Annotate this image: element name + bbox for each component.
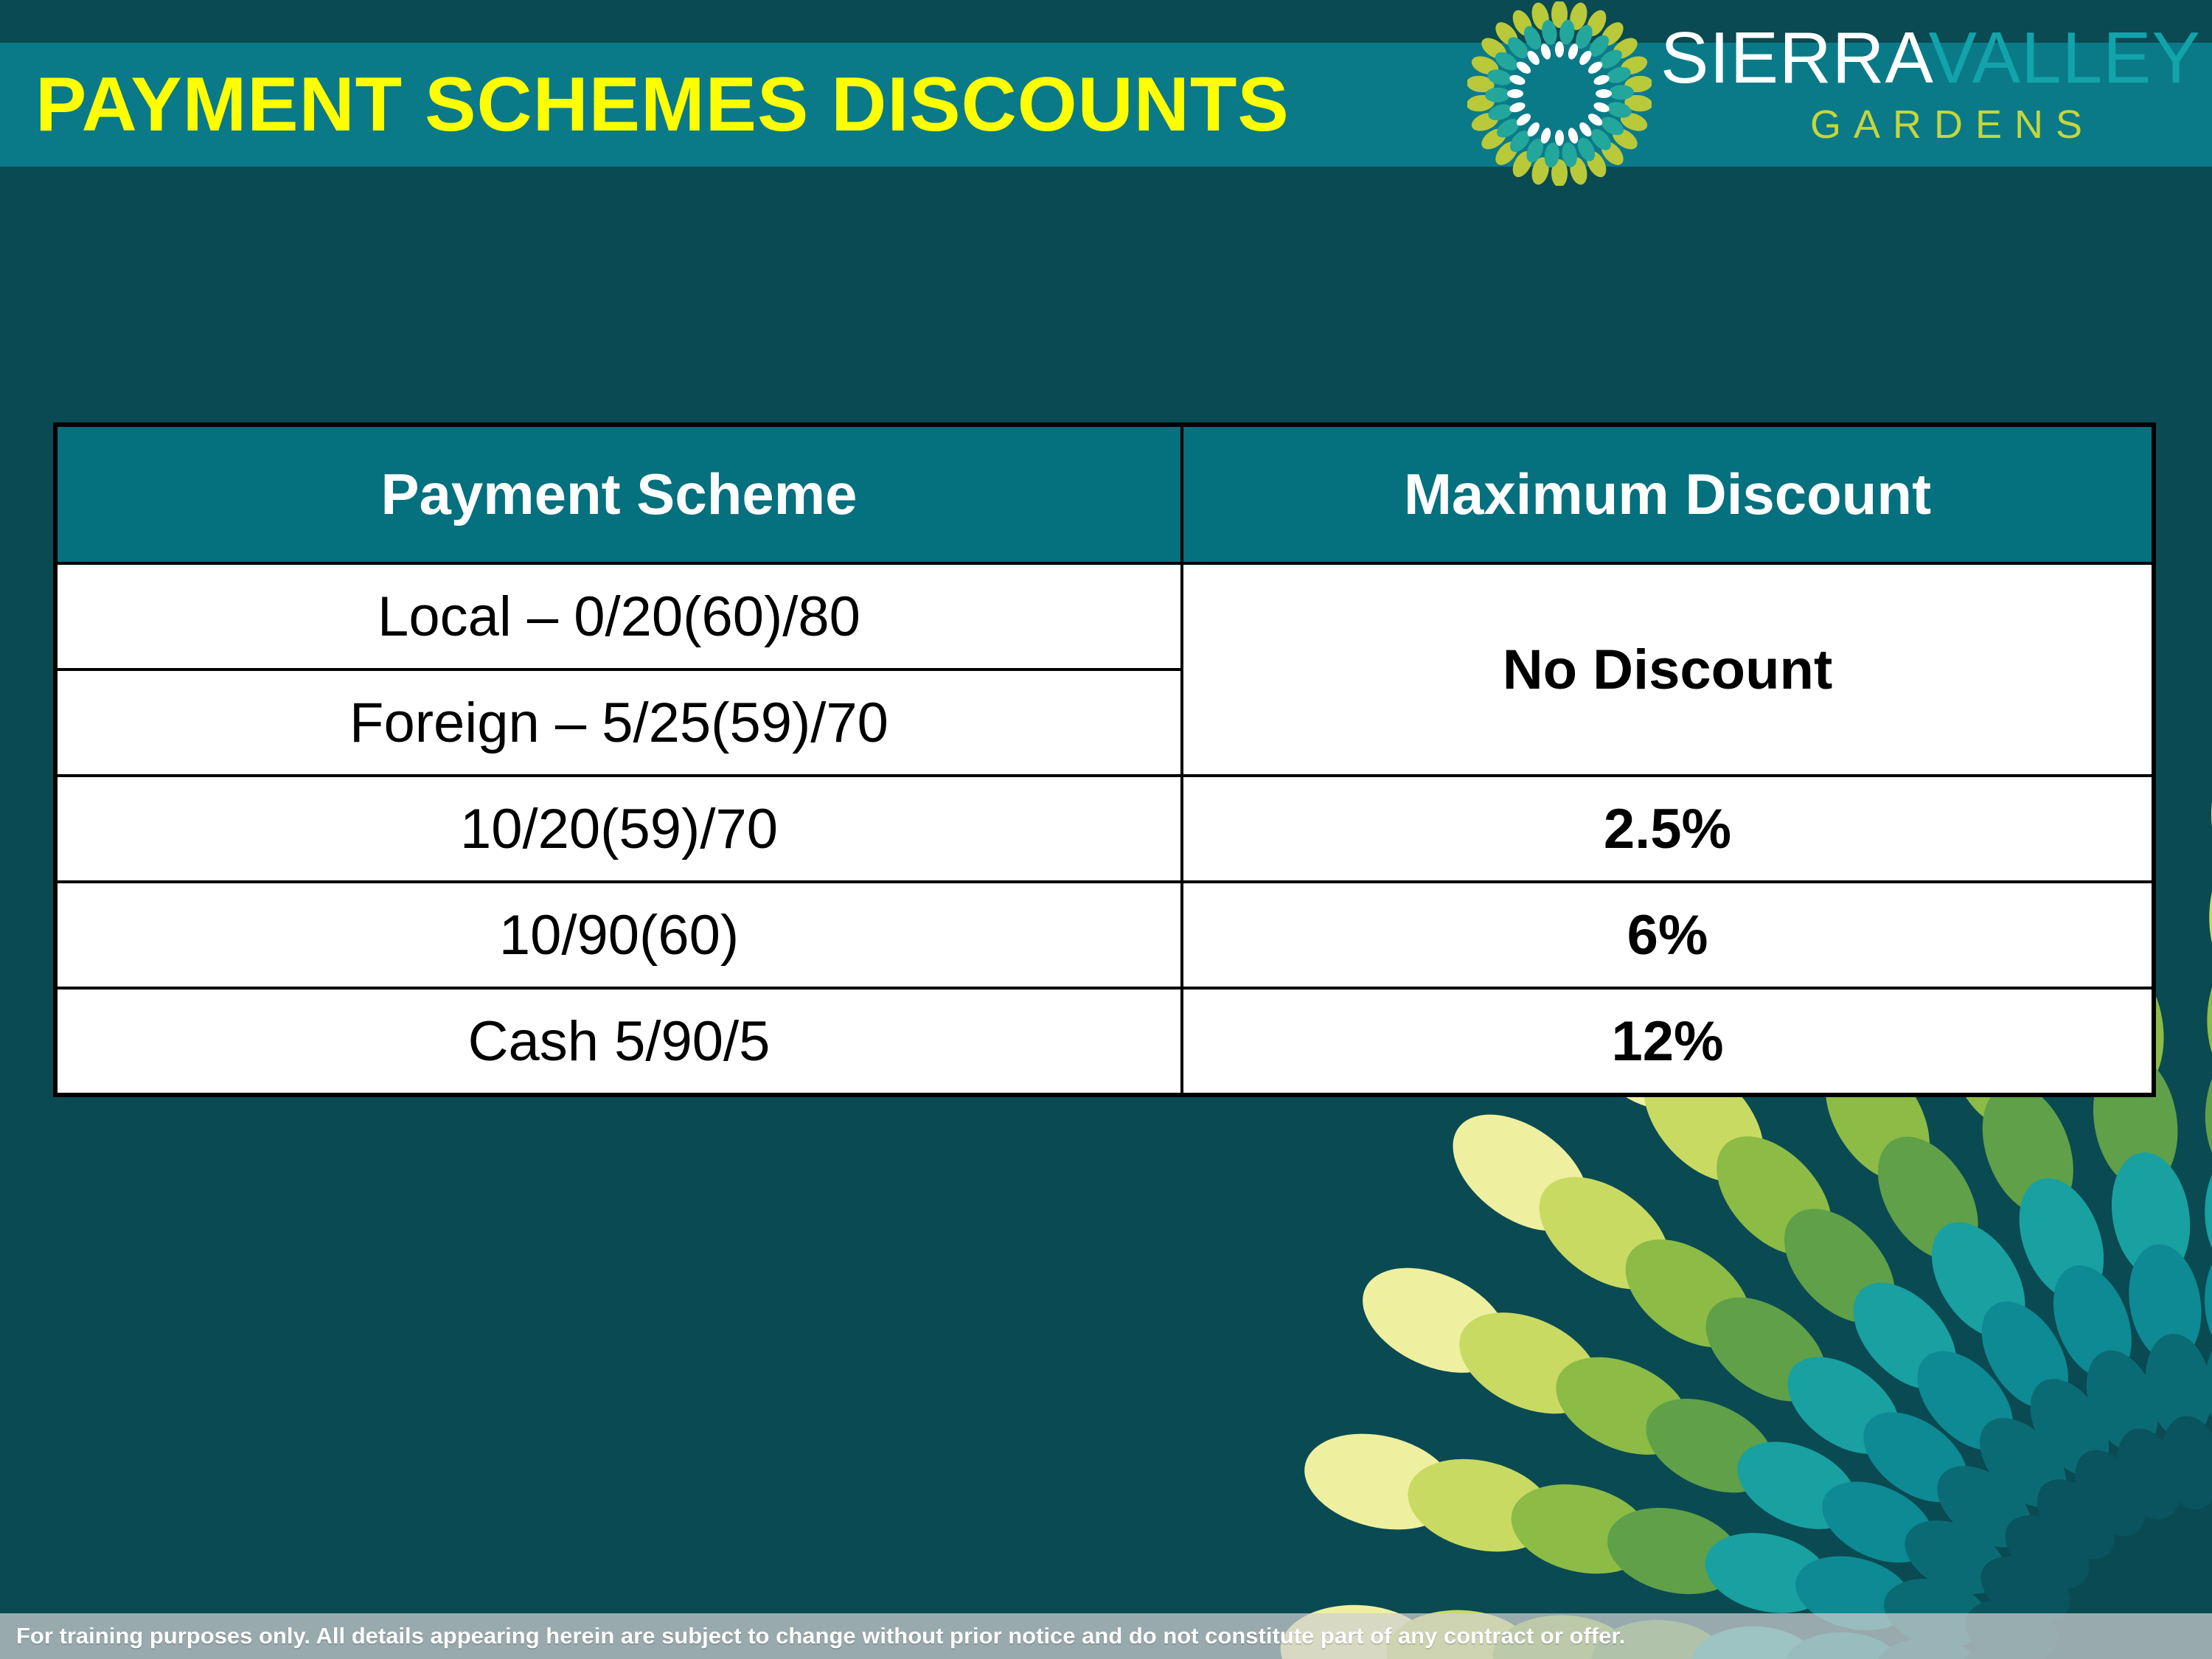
logo-wordmark: SIERRAVALLEY GARDENS — [1660, 16, 2206, 193]
cell-maximum-discount: 2.5% — [1182, 776, 2154, 882]
cell-payment-scheme: Cash 5/90/5 — [55, 988, 1182, 1095]
cell-payment-scheme: 10/90(60) — [55, 882, 1182, 988]
cell-maximum-discount: 6% — [1182, 882, 2154, 988]
table-header-row: Payment Scheme Maximum Discount — [55, 425, 2154, 563]
logo-word-gardens: GARDENS — [1660, 99, 2206, 150]
sierra-valley-gardens-starburst-icon — [1467, 1, 1652, 186]
table-row: 10/20(59)/702.5% — [55, 776, 2154, 882]
cell-maximum-discount: No Discount — [1182, 563, 2154, 776]
footer-disclaimer: For training purposes only. All details … — [16, 1613, 1625, 1659]
slide-canvas: PAYMENT SCHEMES DISCOUNTS SIERRAVALLEY G… — [0, 0, 2212, 1659]
column-header-maximum-discount: Maximum Discount — [1182, 425, 2154, 563]
logo-word-valley: VALLEY — [1929, 17, 2201, 98]
cell-payment-scheme: Local – 0/20(60)/80 — [55, 563, 1182, 669]
logo-word-sierra: SIERRA — [1660, 17, 1929, 98]
table-row: 10/90(60)6% — [55, 882, 2154, 988]
table-row: Cash 5/90/512% — [55, 988, 2154, 1095]
cell-maximum-discount: 12% — [1182, 988, 2154, 1095]
table-body: Local – 0/20(60)/80No DiscountForeign – … — [55, 563, 2154, 1095]
cell-payment-scheme: Foreign – 5/25(59)/70 — [55, 669, 1182, 776]
brand-logo: SIERRAVALLEY GARDENS — [1467, 0, 2212, 199]
table-row: Local – 0/20(60)/80No Discount — [55, 563, 2154, 669]
payment-schemes-discount-table: Payment Scheme Maximum Discount Local – … — [53, 422, 2156, 1097]
cell-payment-scheme: 10/20(59)/70 — [55, 776, 1182, 882]
column-header-payment-scheme: Payment Scheme — [55, 425, 1182, 563]
page-title: PAYMENT SCHEMES DISCOUNTS — [35, 49, 1289, 161]
